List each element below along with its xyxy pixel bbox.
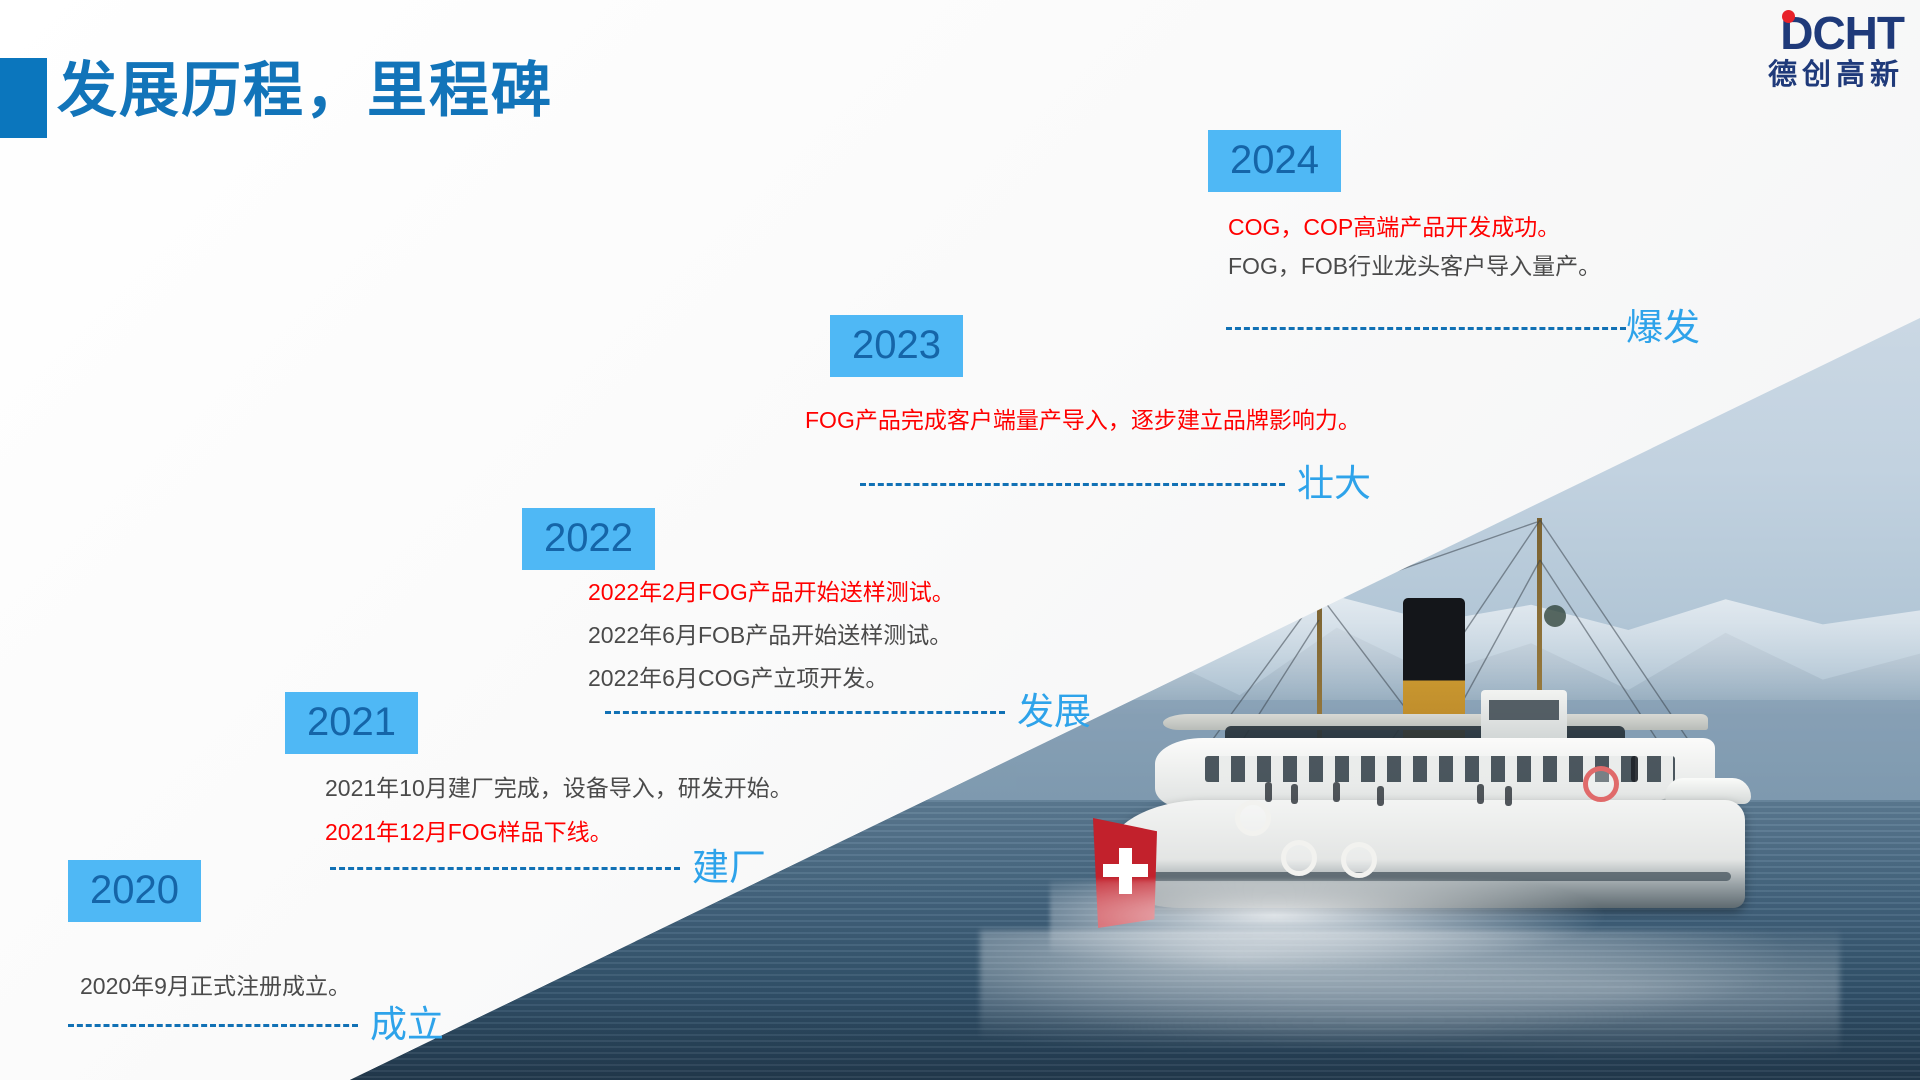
company-logo: DCHT 德创高新: [1714, 8, 1904, 100]
dashed-connector-2023: [860, 483, 1285, 486]
stage-label-2022: 发展: [1017, 692, 1091, 732]
life-ring: [1281, 840, 1317, 876]
event-2022-1: 2022年2月FOG产品开始送样测试。: [588, 572, 955, 612]
stage-row-2020: 成立: [68, 1005, 444, 1045]
stage-row-2023: 壮大: [860, 464, 1371, 504]
slide-canvas: 发展历程，里程碑 DCHT 德创高新 2024 COG，COP高端产品开发成功。…: [0, 0, 1920, 1080]
swiss-cross: [1103, 864, 1148, 877]
dashed-connector-2022: [605, 711, 1005, 714]
passenger: [1265, 782, 1272, 802]
title-accent-bar: [0, 58, 47, 138]
year-chip-2020[interactable]: 2020: [68, 860, 201, 922]
event-2023-1: FOG产品完成客户端量产导入，逐步建立品牌影响力。: [805, 400, 1361, 440]
page-title: 发展历程，里程碑: [57, 42, 553, 129]
event-2020-1: 2020年9月正式注册成立。: [80, 966, 351, 1006]
passenger: [1333, 782, 1340, 802]
wheelhouse-window: [1489, 700, 1559, 720]
stage-row-2021: 建厂: [330, 848, 766, 888]
event-2021-2: 2021年12月FOG样品下线。: [325, 812, 613, 852]
background-photo: [0, 0, 1920, 1080]
passenger: [1377, 786, 1384, 806]
stage-label-2020: 成立: [370, 1005, 444, 1045]
year-chip-2023[interactable]: 2023: [830, 315, 963, 377]
dashed-connector-2020: [68, 1024, 358, 1027]
event-2021-1: 2021年10月建厂完成，设备导入，研发开始。: [325, 768, 793, 808]
year-chip-2024[interactable]: 2024: [1208, 130, 1341, 192]
life-ring: [1583, 766, 1619, 802]
life-ring: [1235, 800, 1271, 836]
logo-chinese-name: 德创高新: [1714, 58, 1904, 92]
ship-wake: [980, 930, 1840, 1060]
passenger: [1505, 786, 1512, 806]
year-chip-2021[interactable]: 2021: [285, 692, 418, 754]
event-2024-2: FOG，FOB行业龙头客户导入量产。: [1228, 246, 1601, 286]
captain: [1631, 756, 1638, 782]
year-chip-2022[interactable]: 2022: [522, 508, 655, 570]
stage-label-2021: 建厂: [692, 848, 766, 888]
dashed-connector-2024: [1226, 327, 1626, 330]
life-ring: [1341, 842, 1377, 878]
event-2024-1: COG，COP高端产品开发成功。: [1228, 207, 1560, 247]
logo-wordmark: DCHT: [1780, 8, 1904, 58]
logo-mark-text: DCHT: [1780, 7, 1904, 59]
stage-row-2024: 爆发: [1226, 308, 1700, 348]
passenger: [1291, 784, 1298, 804]
dashed-connector-2021: [330, 867, 680, 870]
stage-label-2024: 爆发: [1626, 308, 1700, 348]
stage-label-2023: 壮大: [1297, 464, 1371, 504]
stage-row-2022: 发展: [605, 692, 1091, 732]
passenger: [1477, 784, 1484, 804]
aft-mast: [1537, 518, 1542, 718]
event-2022-2: 2022年6月FOB产品开始送样测试。: [588, 615, 952, 655]
